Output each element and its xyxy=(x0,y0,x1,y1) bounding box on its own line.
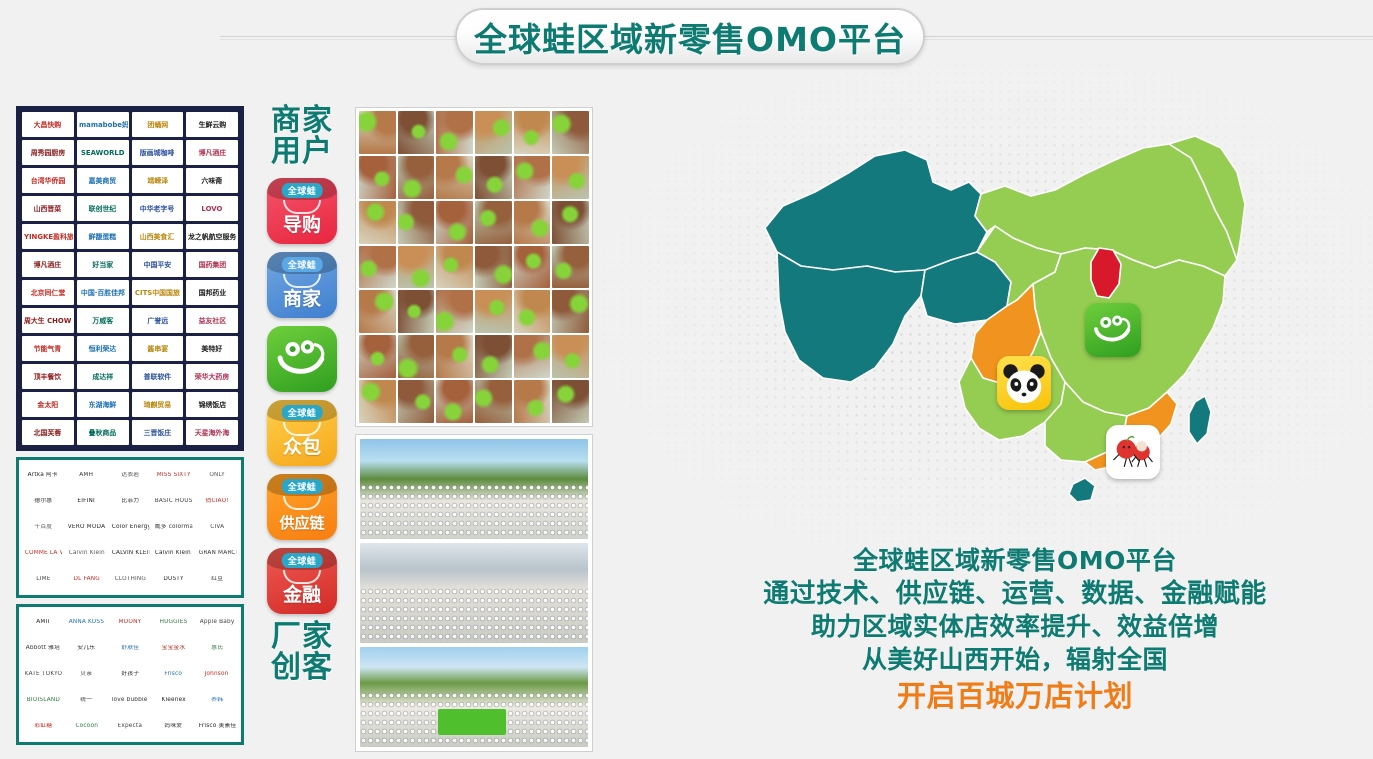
logo-cell: 达衣岩 xyxy=(110,464,150,487)
customer-photo-thumb xyxy=(398,156,435,199)
app-icon-label: 导购 xyxy=(283,210,321,237)
logo-label: 达衣岩 xyxy=(120,472,140,478)
logo-label: KATE TOKYO xyxy=(24,671,63,677)
logo-label: 北京同仁堂 xyxy=(30,289,66,296)
customer-photo-thumb xyxy=(475,335,512,378)
customer-photo-thumb xyxy=(552,246,589,289)
customer-photo-thumb xyxy=(359,380,396,423)
marker-guangdong-lychee-icon[interactable] xyxy=(1106,425,1160,479)
logo-cell: Abbott 雅培 xyxy=(23,637,63,660)
logo-cell: 版画城咖啡 xyxy=(132,140,184,165)
logo-cell: VERO MODA xyxy=(66,516,106,539)
logo-cell: 节能气青 xyxy=(22,336,74,361)
slogan-line-2: 通过技术、供应链、运营、数据、金融赋能 xyxy=(760,578,1270,612)
logo-cell: Calvin Klein xyxy=(66,542,106,565)
logo-label: COMME LA VIE xyxy=(24,550,63,556)
app-icon-shangjia[interactable]: 全球蛙 商家 xyxy=(267,252,337,318)
logo-cell: AMII xyxy=(23,611,63,634)
logo-label: 惠氏 xyxy=(210,645,224,651)
logo-cell: 锦绣饭店 xyxy=(186,392,238,417)
customer-photo-thumb xyxy=(514,201,551,244)
customer-photo-thumb xyxy=(359,290,396,333)
customer-photo-thumb xyxy=(475,156,512,199)
app-icon-daogou[interactable]: 全球蛙 导购 xyxy=(267,178,337,244)
logo-label: Expecta xyxy=(117,723,143,729)
customer-photo-thumb xyxy=(436,290,473,333)
logo-cell: love bubble xyxy=(110,689,150,712)
logo-label: 广誉远 xyxy=(146,317,169,324)
logo-label: 彩虹糖 xyxy=(33,723,53,729)
crowd-texture xyxy=(360,483,588,539)
logo-label: CITS中国国旅 xyxy=(134,289,181,296)
logo-label: 成达祥 xyxy=(91,373,114,380)
logo-label: 威多 colormair xyxy=(154,524,193,530)
logo-cell: BIOISLAND xyxy=(23,689,63,712)
app-icon-label: 金融 xyxy=(283,580,321,607)
slide-canvas: 全球蛙区域新零售OMO平台 大昌快购mamabobe妈咪宝贝团蛹网生鲜云购周秀园… xyxy=(0,0,1373,759)
logo-cell: 威多 colormair xyxy=(153,516,193,539)
marker-shanxi-frog-icon[interactable] xyxy=(1085,303,1141,357)
logo-label: GRAN MARCHE xyxy=(197,550,236,556)
customer-photo-thumb xyxy=(514,111,551,154)
logo-label: 酱串宴 xyxy=(146,345,169,352)
customer-photo-thumb xyxy=(475,380,512,423)
logo-cell: 龙之帆航空服务 xyxy=(186,224,238,249)
green-banner xyxy=(438,709,506,735)
caption-line: 用户 xyxy=(271,137,333,168)
logo-label: 千百度 xyxy=(33,524,53,530)
logo-panel-fashion: Artka 阿卡AMH达衣岩MISS SIXTYONLY德尔惠EIFINI比菲力… xyxy=(16,457,244,598)
customer-photo-thumb xyxy=(359,335,396,378)
customer-photo-thumb xyxy=(552,380,589,423)
china-coverage-map xyxy=(755,120,1255,550)
logo-label: 美特好 xyxy=(201,345,224,352)
brand-pill-label: 全球蛙 xyxy=(282,405,323,420)
logo-label: Calvin Klein xyxy=(68,550,106,556)
logo-label: HUGGIES xyxy=(159,619,189,625)
logo-label: VERO MODA xyxy=(67,524,106,530)
logo-cell: HUGGIES xyxy=(153,611,193,634)
logo-label: 舒肤佳 xyxy=(120,645,140,651)
logo-label: 顶丰餐饮 xyxy=(33,373,63,380)
logo-cell: 嘉美商贸 xyxy=(77,168,129,193)
customer-photo-thumb xyxy=(436,246,473,289)
brand-pill-label: 全球蛙 xyxy=(282,553,323,568)
slogan-line-3: 助力区域实体店效率提升、效益倍增 xyxy=(760,611,1270,644)
logo-cell: DL FANG xyxy=(66,568,106,591)
customer-photo-thumb xyxy=(359,246,396,289)
logo-label: 贝亲 xyxy=(80,671,94,677)
logo-cell: CITS中国国旅 xyxy=(132,280,184,305)
logo-label: 靖嵘泽 xyxy=(146,177,169,184)
logo-cell: 台湾华侨园 xyxy=(22,168,74,193)
logo-cell: 好孩子 xyxy=(110,663,150,686)
slogan-highlight: 开启百城万店计划 xyxy=(760,678,1270,716)
team-photo-panel xyxy=(355,434,593,752)
customer-photo-thumb xyxy=(475,246,512,289)
logo-cell: 宝宝金水 xyxy=(153,637,193,660)
logo-label: 中国·百胜佳邦 xyxy=(80,289,126,296)
logo-cell: SEAWORLD xyxy=(77,140,129,165)
customer-photo-thumb xyxy=(514,380,551,423)
customer-photo-thumb xyxy=(552,111,589,154)
logo-label: 六味斋 xyxy=(201,177,224,184)
logo-label: EIFINI xyxy=(77,498,96,504)
logo-cell: CIVA xyxy=(197,516,237,539)
logo-cell: mamabobe妈咪宝贝 xyxy=(77,112,129,137)
customer-photo-thumb xyxy=(359,201,396,244)
logo-cell: 山西美食汇 xyxy=(132,224,184,249)
app-icon-label: 众包 xyxy=(283,432,321,459)
slogan-line-1: 全球蛙区域新零售OMO平台 xyxy=(760,545,1270,578)
logo-label: Johnson xyxy=(204,671,230,677)
customer-photo-thumb xyxy=(398,246,435,289)
province-taiwan xyxy=(1189,396,1211,444)
app-icon-column: 商家用户 全球蛙 导购 全球蛙 商家 全球蛙 xyxy=(258,106,346,684)
logo-label: 好当家 xyxy=(91,261,114,268)
logo-cell: 六味斋 xyxy=(186,168,238,193)
app-icon-jinrong[interactable]: 全球蛙 金融 xyxy=(267,548,337,614)
frog-face-glyph xyxy=(1091,313,1135,347)
customer-photo-thumb xyxy=(436,201,473,244)
icon-column-caption-top: 商家用户 xyxy=(271,106,333,168)
logo-label: mamabobe妈咪宝贝 xyxy=(78,121,128,128)
logo-label: 天星海外海 xyxy=(194,429,230,436)
logo-label: 万威客 xyxy=(91,317,114,324)
logo-cell: 益友社区 xyxy=(186,308,238,333)
customer-photo-thumb xyxy=(552,335,589,378)
logo-cell: Apple Baby xyxy=(197,611,237,634)
logo-cell: 博凡酒庄 xyxy=(22,252,74,277)
logo-cell: 中国平安 xyxy=(132,252,184,277)
logo-cell: 中国·百胜佳邦 xyxy=(77,280,129,305)
logo-label: YINGKE盈科旅游 xyxy=(23,233,73,240)
logo-label: 生鲜云购 xyxy=(197,121,227,128)
logo-label: Frisco xyxy=(164,671,184,677)
caption-line: 厂家 xyxy=(271,622,333,653)
logo-cell: 天星海外海 xyxy=(186,420,238,445)
logo-cell: 舒肤佳 xyxy=(110,637,150,660)
logo-label: ONLY xyxy=(208,472,226,478)
lychee-mascots-glyph xyxy=(1109,428,1157,476)
customer-photo-thumb xyxy=(398,335,435,378)
province-xinjiang xyxy=(765,150,987,272)
logo-label: 版画城咖啡 xyxy=(139,149,175,156)
logo-label: 宝宝金水 xyxy=(161,645,187,651)
customer-photo-thumb xyxy=(514,156,551,199)
logo-grid: 大昌快购mamabobe妈咪宝贝团蛹网生鲜云购周秀园厨房SEAWORLD版画城咖… xyxy=(22,112,238,445)
customer-photo-thumb xyxy=(359,156,396,199)
customer-photo-thumb xyxy=(436,111,473,154)
customer-photo-thumb xyxy=(475,201,512,244)
logo-grid: AMIIANNA KOSSMOONYHUGGIESApple BabyAbbot… xyxy=(23,611,237,738)
logo-label: AMH xyxy=(79,472,95,478)
logo-cell: BASIC HOUSE xyxy=(153,490,193,513)
logo-label: 妈咪爱 xyxy=(163,723,183,729)
customer-photo-thumb xyxy=(398,290,435,333)
customer-photo-thumb xyxy=(514,290,551,333)
logo-cell: 国药集团 xyxy=(186,252,238,277)
logo-cell: 美特好 xyxy=(186,336,238,361)
logo-cell: 北京同仁堂 xyxy=(22,280,74,305)
logo-cell: 鲜馥蛋糕 xyxy=(77,224,129,249)
logo-label: DL FANG xyxy=(72,576,100,582)
logo-cell: 比菲力 xyxy=(110,490,150,513)
logo-cell: 成达祥 xyxy=(77,364,129,389)
logo-label: 恒利荣达 xyxy=(88,345,118,352)
logo-label: 中华老字号 xyxy=(139,205,175,212)
logo-panel-consumer: AMIIANNA KOSSMOONYHUGGIESApple BabyAbbot… xyxy=(16,604,244,745)
logo-label: BIOISLAND xyxy=(26,697,61,703)
logo-label: 红豆 xyxy=(210,576,224,582)
app-icon-gongyinglian[interactable]: 全球蛙 供应链 xyxy=(267,474,337,540)
logo-label: 比菲力 xyxy=(120,498,140,504)
logo-label: 好孩子 xyxy=(120,671,140,677)
logo-label: LIME xyxy=(35,576,51,582)
logo-cell: 国邦药业 xyxy=(186,280,238,305)
customer-photo-thumb xyxy=(398,380,435,423)
logo-cell: CLOTHING xyxy=(110,568,150,591)
app-icon-zhongbao[interactable]: 全球蛙 众包 xyxy=(267,400,337,466)
slogan-line-4: 从美好山西开始，辐射全国 xyxy=(760,644,1270,677)
logo-label: Color Energy xyxy=(111,524,150,530)
logo-label: 节能气青 xyxy=(33,345,63,352)
logo-cell: 惠氏 xyxy=(197,637,237,660)
logo-cell: 北国芙蓉 xyxy=(22,420,74,445)
logo-cell: 普联软件 xyxy=(132,364,184,389)
logo-cell: Calvin Klein Jeans xyxy=(153,542,193,565)
customer-photo-thumb xyxy=(436,380,473,423)
logo-cell: MOONY xyxy=(110,611,150,634)
logo-label: 琦麒贸易 xyxy=(143,401,173,408)
customer-photo-thumb xyxy=(436,335,473,378)
logo-label: Calvin Klein Jeans xyxy=(154,550,193,556)
brand-pill-label: 全球蛙 xyxy=(282,183,323,198)
logo-label: 叠秋商品 xyxy=(88,429,118,436)
logo-label: 嘉美商贸 xyxy=(88,177,118,184)
logo-cell: 中华老字号 xyxy=(132,196,184,221)
caption-line: 创客 xyxy=(271,653,333,684)
logo-label: Abbott 雅培 xyxy=(25,645,61,651)
logo-cell: 千百度 xyxy=(23,516,63,539)
china-map-svg xyxy=(755,120,1255,550)
logo-cell: Color Energy xyxy=(110,516,150,539)
logo-cell: Johnson xyxy=(197,663,237,686)
logo-label: 统一 xyxy=(80,697,94,703)
logo-label: 三晋饭庄 xyxy=(143,429,173,436)
logo-label: 国邦药业 xyxy=(197,289,227,296)
marker-sichuan-panda-icon[interactable] xyxy=(997,356,1051,410)
logo-cell: 东湖海鲜 xyxy=(77,392,129,417)
panda-face-glyph xyxy=(1000,359,1048,407)
logo-cell: 万威客 xyxy=(77,308,129,333)
logo-cell: Frisco xyxy=(153,663,193,686)
logo-cell: 酱串宴 xyxy=(132,336,184,361)
partner-logo-column: 大昌快购mamabobe妈咪宝贝团蛹网生鲜云购周秀园厨房SEAWORLD版画城咖… xyxy=(16,106,244,751)
logo-label: SEAWORLD xyxy=(80,149,126,156)
logo-label: 博凡酒庄 xyxy=(197,149,227,156)
icon-column-caption-bottom: 厂家创客 xyxy=(271,622,333,684)
customer-photo-thumb xyxy=(475,290,512,333)
logo-label: Artka 阿卡 xyxy=(27,472,59,478)
logo-cell: 荣华大药房 xyxy=(186,364,238,389)
logo-cell: 靖嵘泽 xyxy=(132,168,184,193)
logo-cell: Artka 阿卡 xyxy=(23,464,63,487)
logo-cell: 广誉远 xyxy=(132,308,184,333)
page-title: 全球蛙区域新零售OMO平台 xyxy=(474,13,906,61)
customer-photo-thumb xyxy=(514,335,551,378)
logo-cell: Cocoon xyxy=(66,715,106,738)
logo-cell: 琦麒贸易 xyxy=(132,392,184,417)
logo-label: DUSTY xyxy=(162,576,184,582)
logo-cell: 贝亲 xyxy=(66,663,106,686)
logo-cell: 顶丰餐饮 xyxy=(22,364,74,389)
logo-cell: 养韩 xyxy=(197,689,237,712)
logo-label: 中国平安 xyxy=(143,261,173,268)
logo-label: 团蛹网 xyxy=(146,121,169,128)
logo-label: 国药集团 xyxy=(197,261,227,268)
customer-photo-thumb xyxy=(552,290,589,333)
logo-cell: 好当家 xyxy=(77,252,129,277)
logo-label: 普联软件 xyxy=(143,373,173,380)
logo-label: Apple Baby xyxy=(198,619,235,625)
team-photo xyxy=(360,647,588,747)
logo-label: AMII xyxy=(36,619,51,625)
logo-label: 安儿乐 xyxy=(77,645,97,651)
customer-photo-grid xyxy=(359,111,589,423)
logo-label: BASIC HOUSE xyxy=(154,498,193,504)
logo-label: 山西美食汇 xyxy=(139,233,175,240)
caption-line: 商家 xyxy=(271,106,333,137)
logo-label: LOVO xyxy=(201,205,224,212)
app-icon-label: 供应链 xyxy=(279,512,324,533)
page-title-pill: 全球蛙区域新零售OMO平台 xyxy=(455,8,925,65)
customer-photo-thumb xyxy=(514,246,551,289)
logo-cell: 三晋饭庄 xyxy=(132,420,184,445)
logo-cell: 联创世纪 xyxy=(77,196,129,221)
logo-label: Frisco 美素佳儿 xyxy=(197,723,236,729)
app-icon-label: 商家 xyxy=(283,284,321,311)
logo-label: 联创世纪 xyxy=(88,205,118,212)
logo-label: 周大生 CHOW TAI SENG xyxy=(23,317,73,324)
logo-label: 台湾华侨园 xyxy=(30,177,66,184)
logo-cell: KATE TOKYO xyxy=(23,663,63,686)
customer-photo-thumb xyxy=(552,201,589,244)
logo-label: CLOTHING xyxy=(113,576,146,582)
logo-label: 俏CIAO! xyxy=(204,498,229,504)
brand-pill-label: 全球蛙 xyxy=(282,479,323,494)
logo-cell: Expecta xyxy=(110,715,150,738)
province-hainan xyxy=(1069,478,1095,502)
logo-cell: GRAN MARCHE xyxy=(197,542,237,565)
logo-label: 德尔惠 xyxy=(33,498,53,504)
logo-label: 养韩 xyxy=(210,697,224,703)
customer-photo-thumb xyxy=(436,156,473,199)
logo-label: 北国芙蓉 xyxy=(33,429,63,436)
logo-cell: 德尔惠 xyxy=(23,490,63,513)
logo-label: Kleenex xyxy=(160,697,186,703)
logo-cell: ONLY xyxy=(197,464,237,487)
customer-photo-thumb xyxy=(552,156,589,199)
province-tibet xyxy=(777,252,925,382)
logo-label: 荣华大药房 xyxy=(194,373,230,380)
frog-logo-icon[interactable] xyxy=(267,326,337,392)
team-photo xyxy=(360,439,588,539)
logo-cell: 博凡酒庄 xyxy=(186,140,238,165)
logo-cell: 大昌快购 xyxy=(22,112,74,137)
logo-cell: 红豆 xyxy=(197,568,237,591)
logo-label: 山西晋菜 xyxy=(33,205,63,212)
logo-panel-merchants: 大昌快购mamabobe妈咪宝贝团蛹网生鲜云购周秀园厨房SEAWORLD版画城咖… xyxy=(16,106,244,451)
logo-cell: DUSTY xyxy=(153,568,193,591)
customer-photo-thumb xyxy=(398,111,435,154)
logo-label: love bubble xyxy=(111,697,149,703)
logo-label: 金太阳 xyxy=(37,401,60,408)
customer-photo-panel xyxy=(355,107,593,427)
customer-photo-thumb xyxy=(475,111,512,154)
customer-photo-thumb xyxy=(359,111,396,154)
customer-photo-thumb xyxy=(398,201,435,244)
logo-cell: 周秀园厨房 xyxy=(22,140,74,165)
logo-label: 锦绣饭店 xyxy=(197,401,227,408)
logo-label: CALVIN KLEIN xyxy=(111,550,150,556)
team-photo xyxy=(360,543,588,643)
logo-cell: 俏CIAO! xyxy=(197,490,237,513)
logo-cell: 恒利荣达 xyxy=(77,336,129,361)
logo-label: 周秀园厨房 xyxy=(30,149,66,156)
logo-label: Cocoon xyxy=(74,723,98,729)
logo-cell: MISS SIXTY xyxy=(153,464,193,487)
brand-pill-label: 全球蛙 xyxy=(282,257,323,272)
logo-cell: EIFINI xyxy=(66,490,106,513)
logo-cell: 金太阳 xyxy=(22,392,74,417)
logo-cell: CALVIN KLEIN xyxy=(110,542,150,565)
logo-label: 鲜馥蛋糕 xyxy=(88,233,118,240)
logo-label: ANNA KOSS xyxy=(68,619,105,625)
logo-cell: 妈咪爱 xyxy=(153,715,193,738)
logo-label: 东湖海鲜 xyxy=(88,401,118,408)
logo-label: CIVA xyxy=(209,524,225,530)
logo-label: 大昌快购 xyxy=(33,121,63,128)
logo-cell: Frisco 美素佳儿 xyxy=(197,715,237,738)
logo-label: MOONY xyxy=(118,619,143,625)
logo-cell: LIME xyxy=(23,568,63,591)
logo-cell: Kleenex xyxy=(153,689,193,712)
logo-cell: 山西晋菜 xyxy=(22,196,74,221)
logo-cell: 叠秋商品 xyxy=(77,420,129,445)
logo-cell: COMME LA VIE xyxy=(23,542,63,565)
logo-cell: 安儿乐 xyxy=(66,637,106,660)
logo-cell: YINGKE盈科旅游 xyxy=(22,224,74,249)
logo-cell: AMH xyxy=(66,464,106,487)
logo-cell: 周大生 CHOW TAI SENG xyxy=(22,308,74,333)
logo-label: 益友社区 xyxy=(197,317,227,324)
logo-cell: LOVO xyxy=(186,196,238,221)
logo-cell: ANNA KOSS xyxy=(66,611,106,634)
logo-cell: 生鲜云购 xyxy=(186,112,238,137)
logo-label: 龙之帆航空服务 xyxy=(187,233,237,240)
slogan-block: 全球蛙区域新零售OMO平台 通过技术、供应链、运营、数据、金融赋能 助力区域实体… xyxy=(760,545,1270,716)
bag-handle-shape xyxy=(283,496,321,510)
frog-face-glyph xyxy=(274,337,330,381)
logo-grid: Artka 阿卡AMH达衣岩MISS SIXTYONLY德尔惠EIFINI比菲力… xyxy=(23,464,237,591)
logo-cell: 统一 xyxy=(66,689,106,712)
logo-label: MISS SIXTY xyxy=(155,472,191,478)
crowd-texture xyxy=(360,587,588,643)
logo-cell: 彩虹糖 xyxy=(23,715,63,738)
logo-cell: 团蛹网 xyxy=(132,112,184,137)
logo-label: 博凡酒庄 xyxy=(33,261,63,268)
